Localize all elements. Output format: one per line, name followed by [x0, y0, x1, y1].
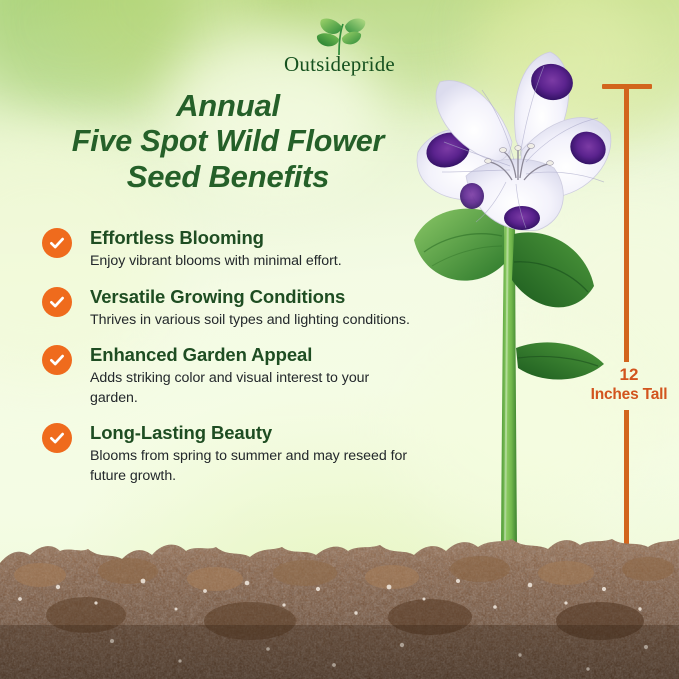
benefit-description: Enjoy vibrant blooms with minimal effort…	[90, 252, 412, 272]
brand-name: Outsidepride	[284, 52, 395, 77]
check-circle-icon	[42, 287, 72, 317]
benefit-description: Blooms from spring to summer and may res…	[90, 447, 412, 486]
title-line-1: Annual	[176, 88, 280, 123]
benefit-title: Long-Lasting Beauty	[90, 421, 412, 444]
list-item: Versatile Growing Conditions Thrives in …	[42, 285, 412, 331]
measurement-value: 12	[578, 365, 679, 385]
benefit-description: Adds striking color and visual interest …	[90, 369, 412, 408]
measurement-label: 12 Inches Tall	[578, 365, 679, 404]
measurement-unit: Inches Tall	[578, 385, 679, 404]
benefit-title: Versatile Growing Conditions	[90, 285, 412, 308]
height-dimension-marker: 12 Inches Tall	[600, 80, 658, 600]
soil-ground	[0, 529, 679, 679]
page-title: Annual Five Spot Wild Flower Seed Benefi…	[18, 88, 438, 194]
infographic-canvas: Outsidepride Annual Five Spot Wild Flowe…	[0, 0, 679, 679]
list-item: Effortless Blooming Enjoy vibrant blooms…	[42, 226, 412, 272]
five-spot-flower	[398, 48, 618, 568]
benefit-title: Effortless Blooming	[90, 226, 412, 249]
benefit-title: Enhanced Garden Appeal	[90, 343, 412, 366]
title-line-3: Seed Benefits	[127, 159, 329, 194]
dimension-line-upper	[624, 86, 629, 362]
title-line-2: Five Spot Wild Flower	[72, 124, 384, 158]
check-circle-icon	[42, 345, 72, 375]
list-item: Long-Lasting Beauty Blooms from spring t…	[42, 421, 412, 486]
list-item: Enhanced Garden Appeal Adds striking col…	[42, 343, 412, 408]
check-circle-icon	[42, 228, 72, 258]
sprout-leaf-icon	[309, 14, 371, 56]
benefits-list: Effortless Blooming Enjoy vibrant blooms…	[42, 226, 412, 486]
benefit-description: Thrives in various soil types and lighti…	[90, 311, 412, 331]
check-circle-icon	[42, 423, 72, 453]
